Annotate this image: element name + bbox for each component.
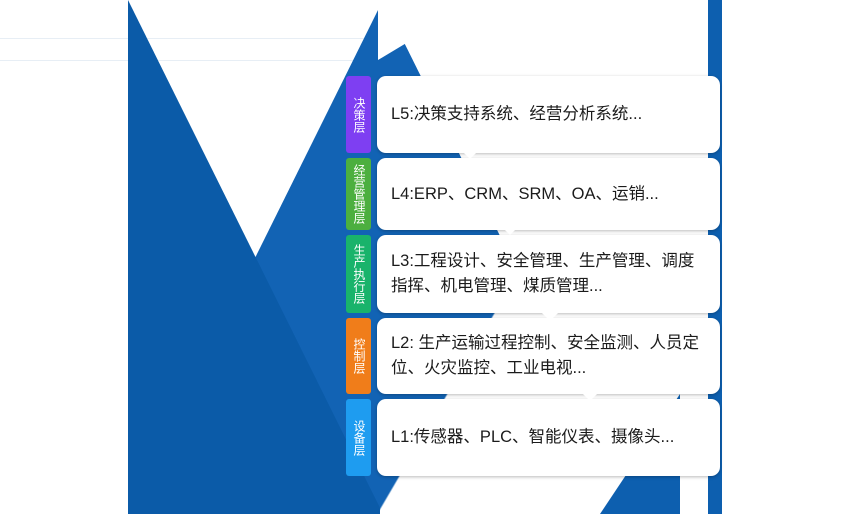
separator-arrow	[461, 150, 479, 159]
separator-arrow	[581, 392, 599, 401]
layer-text-l3: L3:工程设计、安全管理、生产管理、调度指挥、机电管理、煤质管理...	[391, 249, 706, 299]
separator-arrow	[501, 226, 519, 235]
background-vertical-rule	[723, 0, 724, 514]
pyramid-shape-right-face	[128, 0, 383, 514]
layer-stack: 决策层 L5:决策支持系统、经营分析系统... 经营管理层 L4:ERP、CRM…	[346, 76, 720, 481]
layer-tag-label: 生产执行层	[352, 244, 365, 304]
layer-box-l3[interactable]: L3:工程设计、安全管理、生产管理、调度指挥、机电管理、煤质管理...	[377, 235, 720, 313]
layer-tag-l5: 决策层	[346, 76, 371, 153]
layer-tag-label: 决策层	[352, 97, 365, 133]
layer-tag-label: 经营管理层	[352, 164, 365, 224]
layer-box-l1[interactable]: L1:传感器、PLC、智能仪表、摄像头...	[377, 399, 720, 476]
separator-arrow	[541, 312, 559, 321]
layer-text-l5: L5:决策支持系统、经营分析系统...	[391, 102, 642, 127]
layer-text-l1: L1:传感器、PLC、智能仪表、摄像头...	[391, 425, 674, 450]
layer-tag-label: 设备层	[352, 420, 365, 456]
layer-tag-l4: 经营管理层	[346, 158, 371, 230]
layer-text-l4: L4:ERP、CRM、SRM、OA、运销...	[391, 182, 659, 207]
layer-row-l4[interactable]: 经营管理层 L4:ERP、CRM、SRM、OA、运销...	[346, 158, 720, 230]
layer-tag-l2: 控制层	[346, 318, 371, 394]
layer-row-l1[interactable]: 设备层 L1:传感器、PLC、智能仪表、摄像头...	[346, 399, 720, 476]
layer-tag-label: 控制层	[352, 338, 365, 374]
layer-box-l2[interactable]: L2: 生产运输过程控制、安全监测、人员定位、火灾监控、工业电视...	[377, 318, 720, 394]
layer-box-l5[interactable]: L5:决策支持系统、经营分析系统...	[377, 76, 720, 153]
layer-text-l2: L2: 生产运输过程控制、安全监测、人员定位、火灾监控、工业电视...	[391, 331, 706, 381]
layer-tag-l3: 生产执行层	[346, 235, 371, 313]
layer-row-l2[interactable]: 控制层 L2: 生产运输过程控制、安全监测、人员定位、火灾监控、工业电视...	[346, 318, 720, 394]
layer-row-l3[interactable]: 生产执行层 L3:工程设计、安全管理、生产管理、调度指挥、机电管理、煤质管理..…	[346, 235, 720, 313]
layer-box-l4[interactable]: L4:ERP、CRM、SRM、OA、运销...	[377, 158, 720, 230]
diagram-canvas: 决策层 L5:决策支持系统、经营分析系统... 经营管理层 L4:ERP、CRM…	[0, 0, 856, 514]
layer-row-l5[interactable]: 决策层 L5:决策支持系统、经营分析系统...	[346, 76, 720, 153]
layer-tag-l1: 设备层	[346, 399, 371, 476]
